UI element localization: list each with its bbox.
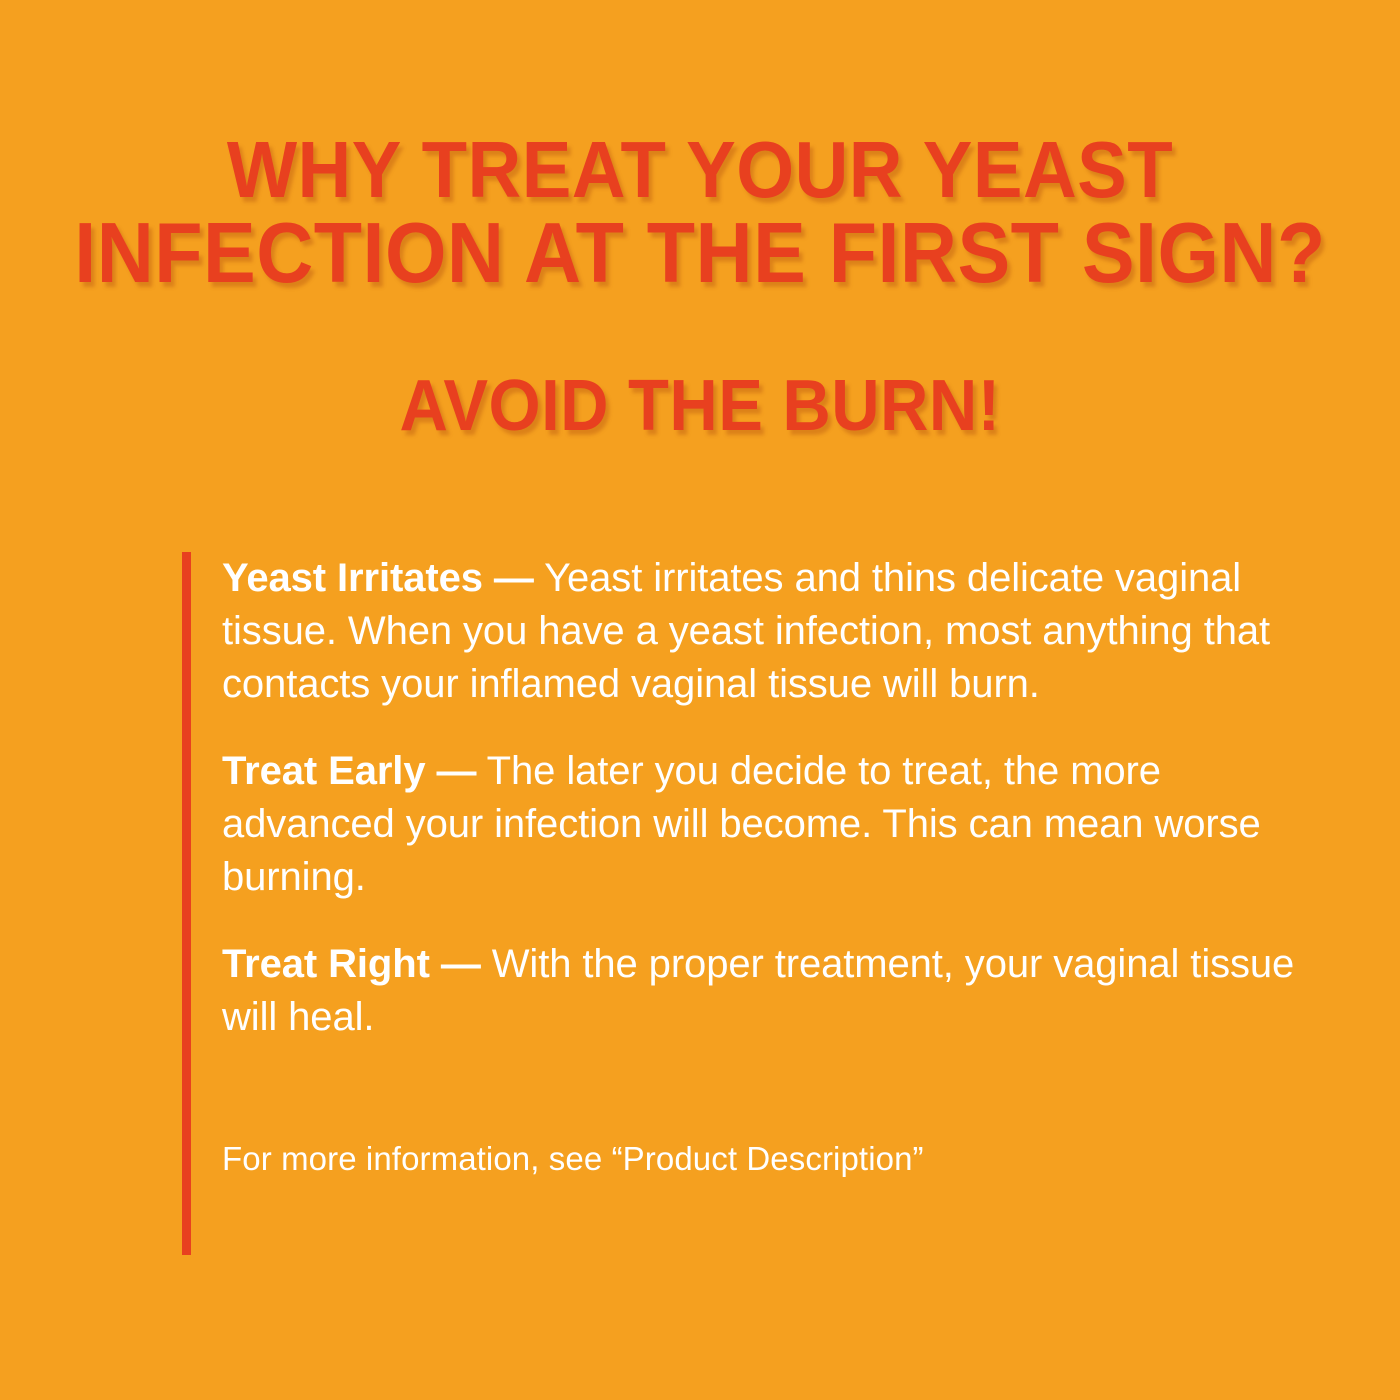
body-paragraph: Yeast Irritates — Yeast irritates and th…: [222, 552, 1327, 711]
body-paragraph: Treat Right — With the proper treatment,…: [222, 938, 1327, 1044]
body-section: Yeast Irritates — Yeast irritates and th…: [182, 552, 1332, 1180]
headline-group: WHY TREAT YOUR YEAST INFECTION AT THE FI…: [0, 128, 1400, 296]
body-paragraph: Treat Early — The later you decide to tr…: [222, 745, 1327, 904]
footnote-text: For more information, see “Product Descr…: [222, 1078, 1327, 1180]
paragraph-lead-in: Treat Early —: [222, 749, 476, 793]
headline-line-2: INFECTION AT THE FIRST SIGN?: [49, 212, 1351, 296]
paragraph-lead-in: Yeast Irritates —: [222, 556, 534, 600]
headline-line-1: WHY TREAT YOUR YEAST: [49, 128, 1351, 212]
subheadline-group: AVOID THE BURN!: [0, 368, 1400, 444]
subheadline: AVOID THE BURN!: [49, 368, 1351, 444]
paragraph-lead-in: Treat Right —: [222, 942, 481, 986]
promotional-poster: WHY TREAT YOUR YEAST INFECTION AT THE FI…: [0, 0, 1400, 1400]
red-accent-bar: [182, 552, 191, 1255]
body-content: Yeast Irritates — Yeast irritates and th…: [222, 552, 1327, 1180]
